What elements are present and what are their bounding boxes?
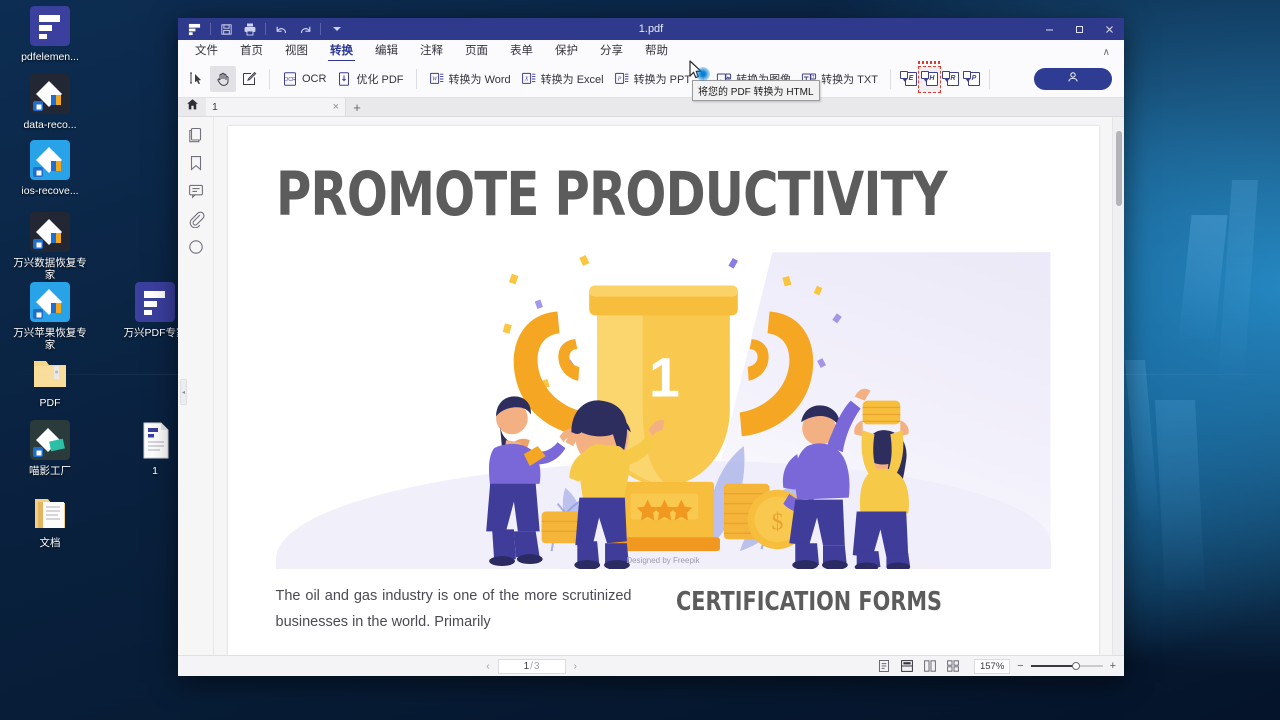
wallpaper-streak — [1155, 400, 1205, 590]
excel-icon: X — [521, 71, 537, 87]
document-viewport[interactable]: PROMOTE PRODUCTIVITY — [214, 117, 1112, 655]
collapse-rail-button[interactable]: ◂ — [180, 379, 187, 405]
svg-text:OCR: OCR — [284, 77, 296, 83]
view-mode-group — [877, 659, 960, 673]
optimize-pdf-button[interactable]: 优化 PDF — [331, 66, 408, 92]
menu-item-help[interactable]: 帮助 — [634, 42, 679, 61]
single-page-view-button[interactable] — [877, 659, 891, 673]
menu-item-edit[interactable]: 编辑 — [364, 42, 409, 61]
menu-item-page[interactable]: 页面 — [454, 42, 499, 61]
svg-text:1: 1 — [649, 347, 680, 409]
quick-access-divider — [210, 23, 211, 35]
convert-to-excel-label: 转换为 Excel — [541, 71, 604, 87]
data-recovery-icon — [30, 74, 70, 114]
menu-item-comment[interactable]: 注释 — [409, 42, 454, 61]
ribbon-divider — [416, 69, 417, 89]
html-convert-tooltip: 将您的 PDF 转换为 HTML — [692, 80, 820, 101]
zoom-value[interactable]: 157% — [974, 659, 1010, 674]
home-tab-button[interactable] — [178, 98, 206, 116]
convert-to-word-button[interactable]: W 转换为 Word — [424, 66, 516, 92]
select-text-tool[interactable] — [184, 66, 210, 92]
continuous-page-view-button[interactable] — [900, 659, 914, 673]
customize-quick-access-icon[interactable] — [326, 19, 347, 39]
stamp-icon[interactable] — [187, 238, 205, 256]
document-tabstrip: 1 × + — [178, 98, 1124, 117]
rtf-format-icon: R — [942, 71, 959, 88]
zoom-controls: 157% − + — [974, 659, 1116, 674]
bookmark-icon[interactable] — [187, 154, 205, 172]
ribbon-toolbar: OCR OCR 优化 PDF W 转换为 — [178, 61, 1124, 98]
quick-access-toolbar — [178, 18, 347, 40]
ribbon-divider — [989, 69, 990, 89]
desktop-icon-label: 万兴数据恢复专家 — [10, 257, 90, 281]
desktop-icon-label: PDF — [10, 397, 90, 409]
quick-access-divider — [320, 23, 321, 35]
desktop-icon-label: data-reco... — [10, 119, 90, 131]
optimize-pdf-label: 优化 PDF — [356, 71, 403, 87]
convert-to-epub-button[interactable]: E — [898, 67, 919, 92]
attachment-icon[interactable] — [187, 210, 205, 228]
page-indicator[interactable]: 1 / 3 — [498, 659, 566, 674]
desktop-icon-label: pdfelemen... — [10, 51, 90, 63]
convert-to-ppt-button[interactable]: P 转换为 PPT — [609, 66, 696, 92]
app-logo-icon — [184, 19, 205, 39]
ocr-page-icon: OCR — [282, 71, 298, 87]
wanxing-pdf-icon — [135, 282, 175, 322]
document-subtitle: CERTIFICATION FORMS — [676, 587, 942, 635]
word-icon: W — [429, 71, 445, 87]
menu-item-view[interactable]: 视图 — [274, 42, 319, 61]
document-body: The oil and gas industry is one of the m… — [276, 583, 1051, 635]
ppt-icon: P — [614, 71, 630, 87]
pdf-page: PROMOTE PRODUCTIVITY — [228, 126, 1099, 655]
menu-item-protect[interactable]: 保护 — [544, 42, 589, 61]
account-button[interactable] — [1034, 68, 1112, 90]
user-account-icon — [1066, 70, 1080, 89]
page-title: PROMOTE PRODUCTIVITY — [276, 164, 888, 226]
zoom-slider[interactable] — [1031, 660, 1103, 672]
workarea: ◂ ▸ PROMOTE PRODUCTIVITY — [178, 117, 1124, 655]
convert-to-ppt-label: 转换为 PPT — [634, 71, 691, 87]
ocr-label: OCR — [302, 73, 326, 85]
print-icon[interactable] — [239, 19, 260, 39]
svg-text:X: X — [523, 77, 528, 83]
current-page-value: 1 — [524, 661, 530, 672]
two-page-view-button[interactable] — [923, 659, 937, 673]
svg-text:$: $ — [771, 510, 783, 536]
undo-icon[interactable] — [271, 19, 292, 39]
desktop-icon-label: 文档 — [10, 537, 90, 549]
desktop-icon-label: 万兴苹果恢复专家 — [10, 327, 90, 351]
optimize-icon — [336, 71, 352, 87]
menu-item-form[interactable]: 表单 — [499, 42, 544, 61]
edit-tool[interactable] — [236, 66, 262, 92]
convert-to-html-button[interactable]: H — [919, 67, 940, 92]
ios-recovery-icon — [30, 140, 70, 180]
page-thumbnails-icon[interactable] — [187, 126, 205, 144]
next-page-button[interactable]: › — [572, 661, 579, 672]
comment-icon[interactable] — [187, 182, 205, 200]
menu-item-home[interactable]: 首页 — [229, 42, 274, 61]
statusbar: ‹ 1 / 3 › — [178, 655, 1124, 676]
convert-to-rtf-button[interactable]: R — [940, 67, 961, 92]
redo-icon[interactable] — [294, 19, 315, 39]
wallpaper-streak — [1178, 215, 1227, 340]
wanxing-apple-recovery-icon — [30, 282, 70, 322]
wanxing-data-recovery-icon — [30, 212, 70, 252]
svg-text:P: P — [616, 77, 621, 83]
wallpaper-streak — [1218, 180, 1258, 380]
zoom-out-button[interactable]: − — [1017, 660, 1023, 672]
pages-format-icon: P — [963, 71, 980, 88]
menu-item-convert[interactable]: 转换 — [319, 42, 364, 61]
scrollbar-thumb[interactable] — [1116, 131, 1122, 206]
home-icon — [186, 98, 199, 116]
vertical-scrollbar[interactable] — [1112, 117, 1124, 655]
new-tab-button[interactable]: + — [346, 98, 368, 116]
hand-tool[interactable] — [210, 66, 236, 92]
ribbon-divider — [269, 69, 270, 89]
document-tab[interactable]: 1 × — [206, 98, 346, 116]
page-separator: / — [530, 661, 533, 672]
desktop-icon-wanxing-data-recovery-icon[interactable]: 万兴数据恢复专家 — [10, 212, 90, 281]
desktop-icon-label: ios-recove... — [10, 185, 90, 197]
zoom-in-button[interactable]: + — [1110, 660, 1116, 672]
svg-text:T: T — [812, 74, 815, 79]
folder-icon — [30, 352, 70, 392]
convert-to-txt-label: 转换为 TXT — [821, 71, 878, 87]
menu-item-share[interactable]: 分享 — [589, 42, 634, 61]
epub-format-icon: E — [900, 71, 917, 88]
zoom-slider-knob[interactable] — [1072, 662, 1080, 670]
documents-folder-icon — [30, 492, 70, 532]
convert-to-word-label: 转换为 Word — [449, 71, 511, 87]
pdfelement-app-icon — [30, 6, 70, 46]
pdfelement-window: 1.pdf — [178, 18, 1124, 676]
menubar: 文件 首页 视图 转换 编辑 注释 页面 表单 保护 分享 帮助 ∧ — [178, 40, 1124, 61]
document-tab-label: 1 — [212, 101, 218, 113]
grid-page-view-button[interactable] — [946, 659, 960, 673]
quick-access-divider — [265, 23, 266, 35]
wallpaper-streak — [1125, 360, 1159, 520]
ocr-button[interactable]: OCR OCR — [277, 66, 331, 92]
previous-page-button[interactable]: ‹ — [484, 661, 491, 672]
desktop-icon-label: 喵影工厂 — [10, 465, 90, 477]
desktop-icon-pdfelement-app-icon[interactable]: pdfelemen... — [10, 6, 90, 63]
save-icon[interactable] — [216, 19, 237, 39]
desktop-icon-filmora-icon[interactable]: 喵影工厂 — [10, 420, 90, 477]
page-navigation: ‹ 1 / 3 › — [484, 659, 579, 674]
menu-item-file[interactable]: 文件 — [184, 42, 229, 61]
trophy-teamwork-illustration: 1 — [276, 252, 1051, 569]
ribbon-divider — [890, 69, 891, 89]
total-pages-value: 3 — [534, 661, 540, 672]
svg-text:W: W — [432, 77, 438, 83]
collapse-ribbon-icon[interactable]: ∧ — [1095, 47, 1118, 61]
html-format-icon: H — [921, 71, 938, 88]
pdf-document-icon — [135, 420, 175, 460]
convert-to-pages-button[interactable]: P — [961, 67, 982, 92]
desktop-icon-folder-icon[interactable]: PDF — [10, 352, 90, 409]
close-tab-icon[interactable]: × — [333, 101, 339, 113]
desktop-icon-data-recovery-icon[interactable]: data-reco... — [10, 74, 90, 131]
filmora-icon — [30, 420, 70, 460]
desktop-icon-ios-recovery-icon[interactable]: ios-recove... — [10, 140, 90, 197]
convert-to-excel-button[interactable]: X 转换为 Excel — [516, 66, 609, 92]
mouse-cursor — [689, 60, 705, 85]
illustration-credit: Designed by Freepik — [276, 556, 1051, 565]
document-paragraph: The oil and gas industry is one of the m… — [276, 583, 632, 635]
desktop-icon-documents-folder-icon[interactable]: 文档 — [10, 492, 90, 549]
desktop-icon-wanxing-apple-recovery-icon[interactable]: 万兴苹果恢复专家 — [10, 282, 90, 351]
